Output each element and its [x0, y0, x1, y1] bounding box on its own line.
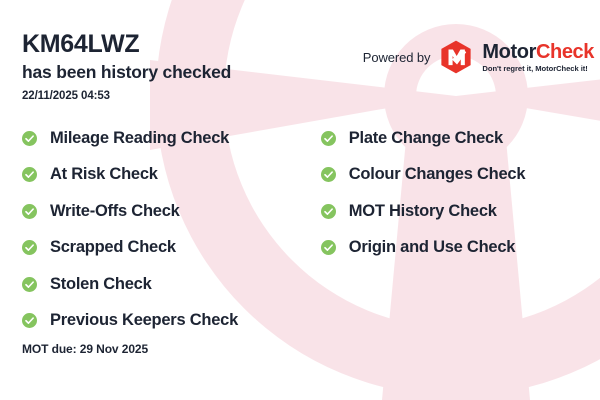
check-item-label: Origin and Use Check	[349, 238, 515, 257]
checks-columns: Mileage Reading Check At Risk Check Writ…	[0, 120, 600, 339]
check-circle-icon	[22, 167, 37, 182]
check-item-label: At Risk Check	[50, 165, 158, 184]
check-circle-icon	[22, 313, 37, 328]
motorcheck-wordmark: MotorCheck Don't regret it, MotorCheck i…	[482, 42, 594, 73]
check-item-previous-keepers: Previous Keepers Check	[22, 303, 311, 340]
check-circle-icon	[22, 204, 37, 219]
motorcheck-hexagon-logo-icon	[439, 40, 473, 74]
vehicle-registration-plate: KM64LWZ	[22, 30, 352, 60]
check-circle-icon	[321, 131, 336, 146]
check-item-label: Colour Changes Check	[349, 165, 526, 184]
powered-by-label: Powered by	[363, 50, 431, 65]
vehicle-history-check-card: KM64LWZ has been history checked 22/11/2…	[0, 0, 600, 400]
check-item-colour-changes: Colour Changes Check	[321, 157, 600, 194]
header-block: KM64LWZ has been history checked 22/11/2…	[22, 30, 352, 102]
check-circle-icon	[321, 240, 336, 255]
check-item-mileage-reading: Mileage Reading Check	[22, 120, 311, 157]
brand-bar: Powered by MotorCheck Don't regret it, M…	[363, 40, 594, 74]
check-item-stolen: Stolen Check	[22, 266, 311, 303]
check-item-write-offs: Write-Offs Check	[22, 193, 311, 230]
check-item-label: Stolen Check	[50, 275, 152, 294]
wordmark-check: Check	[536, 41, 594, 63]
check-item-label: Plate Change Check	[349, 129, 503, 148]
check-circle-icon	[22, 277, 37, 292]
check-circle-icon	[22, 240, 37, 255]
check-item-plate-change: Plate Change Check	[321, 120, 600, 157]
check-item-scrapped: Scrapped Check	[22, 230, 311, 267]
check-item-label: Scrapped Check	[50, 238, 176, 257]
checks-column-left: Mileage Reading Check At Risk Check Writ…	[0, 120, 311, 339]
check-item-label: Mileage Reading Check	[50, 129, 229, 148]
wordmark-motor: Motor	[482, 41, 536, 63]
check-timestamp: 22/11/2025 04:53	[22, 90, 352, 102]
check-circle-icon	[321, 167, 336, 182]
mot-due-label: MOT due: 29 Nov 2025	[22, 342, 148, 356]
check-item-at-risk: At Risk Check	[22, 157, 311, 194]
check-item-mot-history: MOT History Check	[321, 193, 600, 230]
check-circle-icon	[321, 204, 336, 219]
checks-column-right: Plate Change Check Colour Changes Check …	[311, 120, 600, 339]
check-circle-icon	[22, 131, 37, 146]
check-item-label: Write-Offs Check	[50, 202, 180, 221]
brand-tagline: Don't regret it, MotorCheck it!	[482, 65, 594, 73]
check-item-label: Previous Keepers Check	[50, 311, 238, 330]
header-subtitle: has been history checked	[22, 62, 352, 83]
check-item-origin-and-use: Origin and Use Check	[321, 230, 600, 267]
check-item-label: MOT History Check	[349, 202, 497, 221]
